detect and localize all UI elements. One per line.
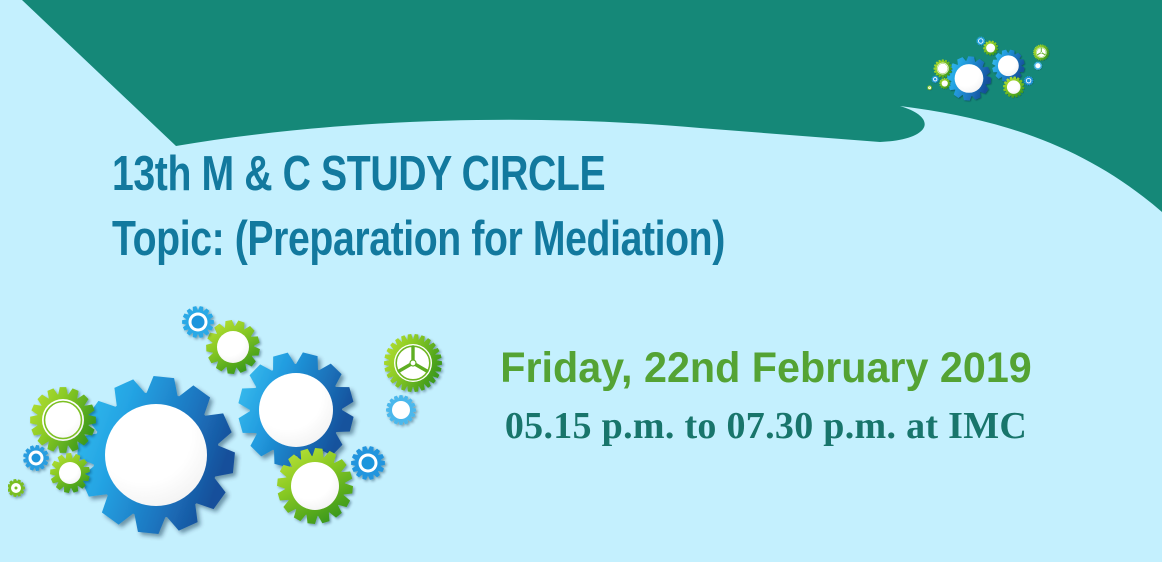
event-time-venue: 05.15 p.m. to 07.30 p.m. at IMC [436,406,1096,448]
gear-cluster-bottom-left [8,300,460,550]
event-date: Friday, 22nd February 2019 [449,345,1083,392]
event-banner: 13th M & C STUDY CIRCLE Topic: (Preparat… [0,0,1162,562]
teal-swoosh-shape [0,0,1162,562]
gear-cluster-top-right [922,8,1162,188]
datetime-block: Friday, 22nd February 2019 05.15 p.m. to… [436,345,1096,448]
headline-block: 13th M & C STUDY CIRCLE Topic: (Preparat… [112,150,932,264]
event-topic: Topic: (Preparation for Mediation) [112,215,768,264]
event-title: 13th M & C STUDY CIRCLE [112,150,768,199]
